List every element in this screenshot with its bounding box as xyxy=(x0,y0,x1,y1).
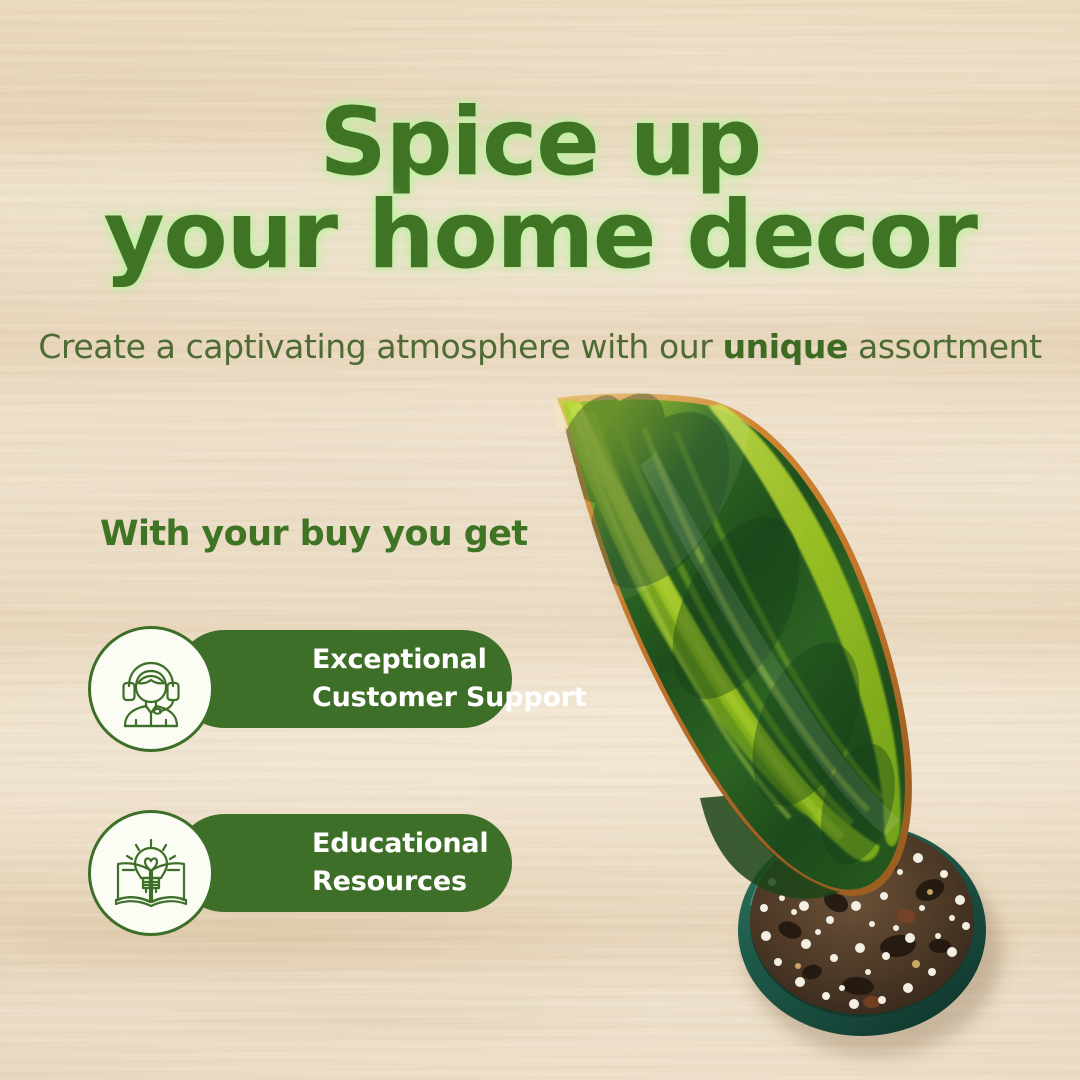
benefit-icon-circle xyxy=(88,626,214,752)
benefit-label: Exceptional Customer Support xyxy=(312,630,612,728)
poster-canvas: Spice up your home decor Create a captiv… xyxy=(0,0,1080,1080)
benefits-heading: With your buy you get xyxy=(100,514,528,554)
benefit-icon-circle xyxy=(88,810,214,936)
benefit-badge-customer-support[interactable]: Exceptional Customer Support xyxy=(88,626,512,752)
page-subtitle: Create a captivating atmosphere with our… xyxy=(0,327,1080,366)
benefit-badge-educational-resources[interactable]: Educational Resources xyxy=(88,810,512,936)
subtitle-prefix: Create a captivating atmosphere with our xyxy=(38,327,722,366)
subtitle-suffix: assortment xyxy=(848,327,1042,366)
page-title: Spice up your home decor xyxy=(0,96,1080,282)
headset-support-agent-icon xyxy=(112,650,190,728)
benefit-label: Educational Resources xyxy=(312,814,612,912)
subtitle-emphasis: unique xyxy=(723,327,848,366)
lightbulb-open-book-icon xyxy=(112,834,190,912)
